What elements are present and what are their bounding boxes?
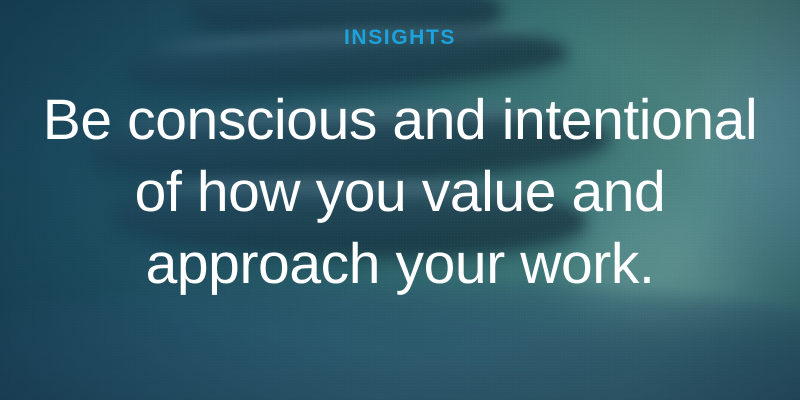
eyebrow-label: INSIGHTS [344, 27, 456, 48]
headline-line-1: Be conscious and intentional [5, 84, 795, 156]
headline-line-3: approach your work. [5, 228, 795, 300]
insights-quote-banner: INSIGHTS Be conscious and intentional of… [0, 0, 800, 400]
headline-line-2: of how you value and [5, 156, 795, 228]
headline-quote: Be conscious and intentional of how you … [5, 84, 795, 300]
banner-content: INSIGHTS Be conscious and intentional of… [0, 0, 800, 400]
